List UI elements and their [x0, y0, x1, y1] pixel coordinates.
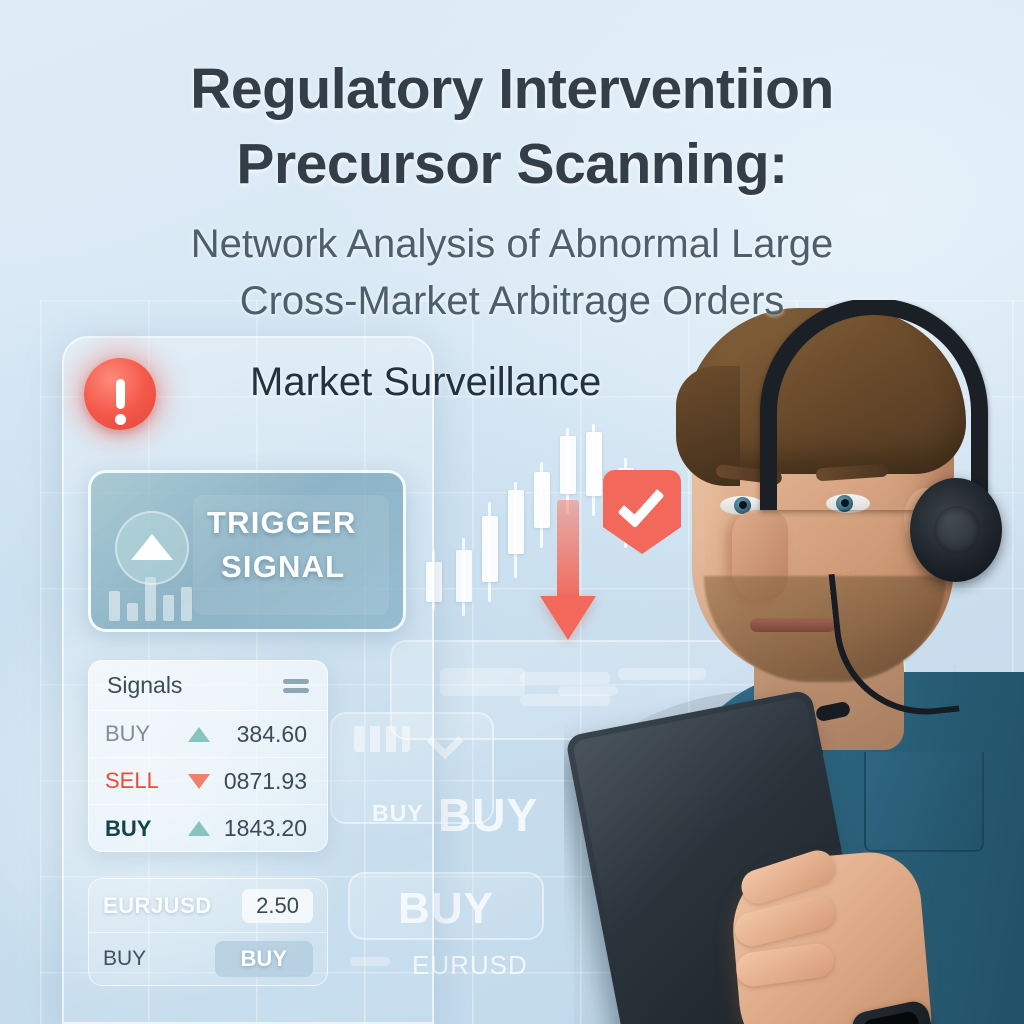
- trader-photo: [564, 300, 1024, 1024]
- section-title: Market Surveillance: [250, 360, 601, 405]
- signal-side: BUY: [105, 816, 177, 842]
- trigger-label-line1: TRIGGER: [207, 501, 397, 545]
- candle-body: [560, 436, 576, 494]
- table-row[interactable]: SELL 0871.93: [89, 758, 327, 805]
- mouth: [750, 618, 836, 632]
- alert-exclamation-icon[interactable]: [84, 358, 156, 430]
- mini-candle: [109, 591, 120, 621]
- currency-pair-card: EURJUSD 2.50 BUY BUY: [88, 878, 328, 986]
- ghost-bar-1: [440, 668, 525, 696]
- title-line-1: Regulatory Interventiion: [0, 52, 1024, 127]
- signals-header: Signals: [89, 661, 327, 711]
- candle-body: [586, 432, 602, 496]
- page-title: Regulatory Interventiion Precursor Scann…: [0, 52, 1024, 330]
- pair-row: EURJUSD 2.50: [89, 879, 327, 933]
- signal-side: SELL: [105, 768, 177, 794]
- signal-value: 384.60: [221, 721, 311, 748]
- candle-body: [456, 550, 472, 602]
- candle-body: [508, 490, 524, 554]
- ghost-buy-medium-label: BUY: [438, 788, 538, 842]
- candle-body: [534, 472, 550, 528]
- pair-label: EURJUSD: [103, 893, 212, 919]
- triangle-up-icon: [115, 511, 189, 585]
- buy-label: BUY: [103, 947, 146, 971]
- signal-value: 0871.93: [221, 768, 311, 795]
- trigger-signal-card[interactable]: TRIGGER SIGNAL: [88, 470, 406, 632]
- hamburger-icon[interactable]: [283, 675, 309, 697]
- signal-value: 1843.20: [221, 815, 311, 842]
- table-row[interactable]: BUY 384.60: [89, 711, 327, 758]
- signals-title: Signals: [107, 672, 182, 699]
- candle-body: [482, 516, 498, 582]
- pair-value[interactable]: 2.50: [242, 889, 313, 923]
- mini-candle: [163, 595, 174, 621]
- table-row[interactable]: BUY 1843.20: [89, 805, 327, 852]
- shield-check-icon: [603, 470, 681, 554]
- trigger-label-line2: SIGNAL: [207, 545, 397, 589]
- subtitle-line-1: Network Analysis of Abnormal Large: [0, 216, 1024, 273]
- triangle-up-icon: [177, 821, 221, 836]
- buy-row: BUY BUY: [89, 933, 327, 985]
- signal-side: BUY: [105, 721, 177, 747]
- shirt-pocket: [864, 752, 984, 852]
- triangle-up-icon: [177, 727, 221, 742]
- mini-candle: [127, 603, 138, 621]
- title-line-2: Precursor Scanning:: [0, 127, 1024, 202]
- buy-button[interactable]: BUY: [215, 941, 313, 977]
- mini-candle: [181, 587, 192, 621]
- subtitle-line-2: Cross-Market Arbitrage Orders: [0, 273, 1024, 330]
- triangle-down-icon: [177, 774, 221, 789]
- signals-panel: Signals BUY 384.60 SELL 0871.93 BUY 1843…: [88, 660, 328, 852]
